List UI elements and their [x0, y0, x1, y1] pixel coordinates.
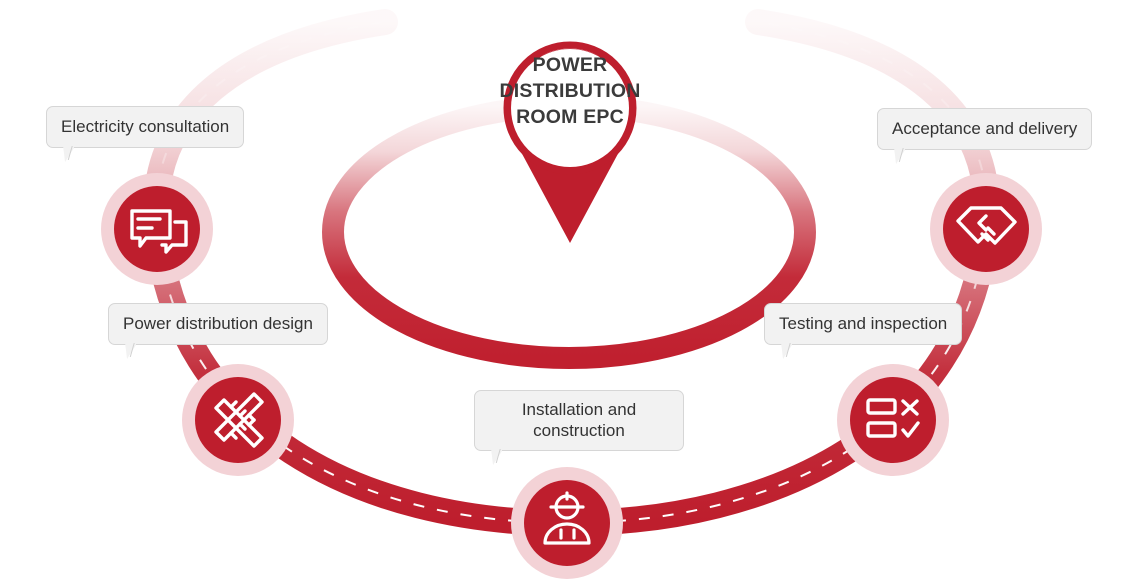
step-label-text: Acceptance and delivery	[892, 119, 1077, 138]
step-label-text: Testing and inspection	[779, 314, 947, 333]
label-tail	[779, 343, 792, 359]
step-label-testing-inspection[interactable]: Testing and inspection	[764, 303, 962, 345]
label-tail	[61, 146, 74, 162]
node-power-distribution-design[interactable]	[182, 364, 294, 476]
label-tail	[489, 449, 502, 465]
center-pin	[507, 45, 633, 243]
step-label-acceptance-delivery[interactable]: Acceptance and delivery	[877, 108, 1092, 150]
node-testing-inspection[interactable]	[837, 364, 949, 476]
node-installation-construction[interactable]	[511, 467, 623, 579]
step-label-installation-construction[interactable]: Installation and construction	[474, 390, 684, 451]
node-electricity-consultation[interactable]	[101, 173, 213, 285]
step-label-text: Electricity consultation	[61, 117, 229, 136]
node-acceptance-delivery[interactable]	[930, 173, 1042, 285]
label-tail	[123, 343, 136, 359]
step-label-text-line-2: construction	[489, 420, 669, 441]
step-label-text-line-1: Installation and	[489, 399, 669, 420]
step-label-power-distribution-design[interactable]: Power distribution design	[108, 303, 328, 345]
step-label-electricity-consultation[interactable]: Electricity consultation	[46, 106, 244, 148]
roadmap-svg	[0, 0, 1139, 587]
diagram-canvas: POWER DISTRIBUTION ROOM EPC Electricity …	[0, 0, 1139, 587]
label-tail	[892, 148, 905, 164]
step-label-text: Power distribution design	[123, 314, 313, 333]
